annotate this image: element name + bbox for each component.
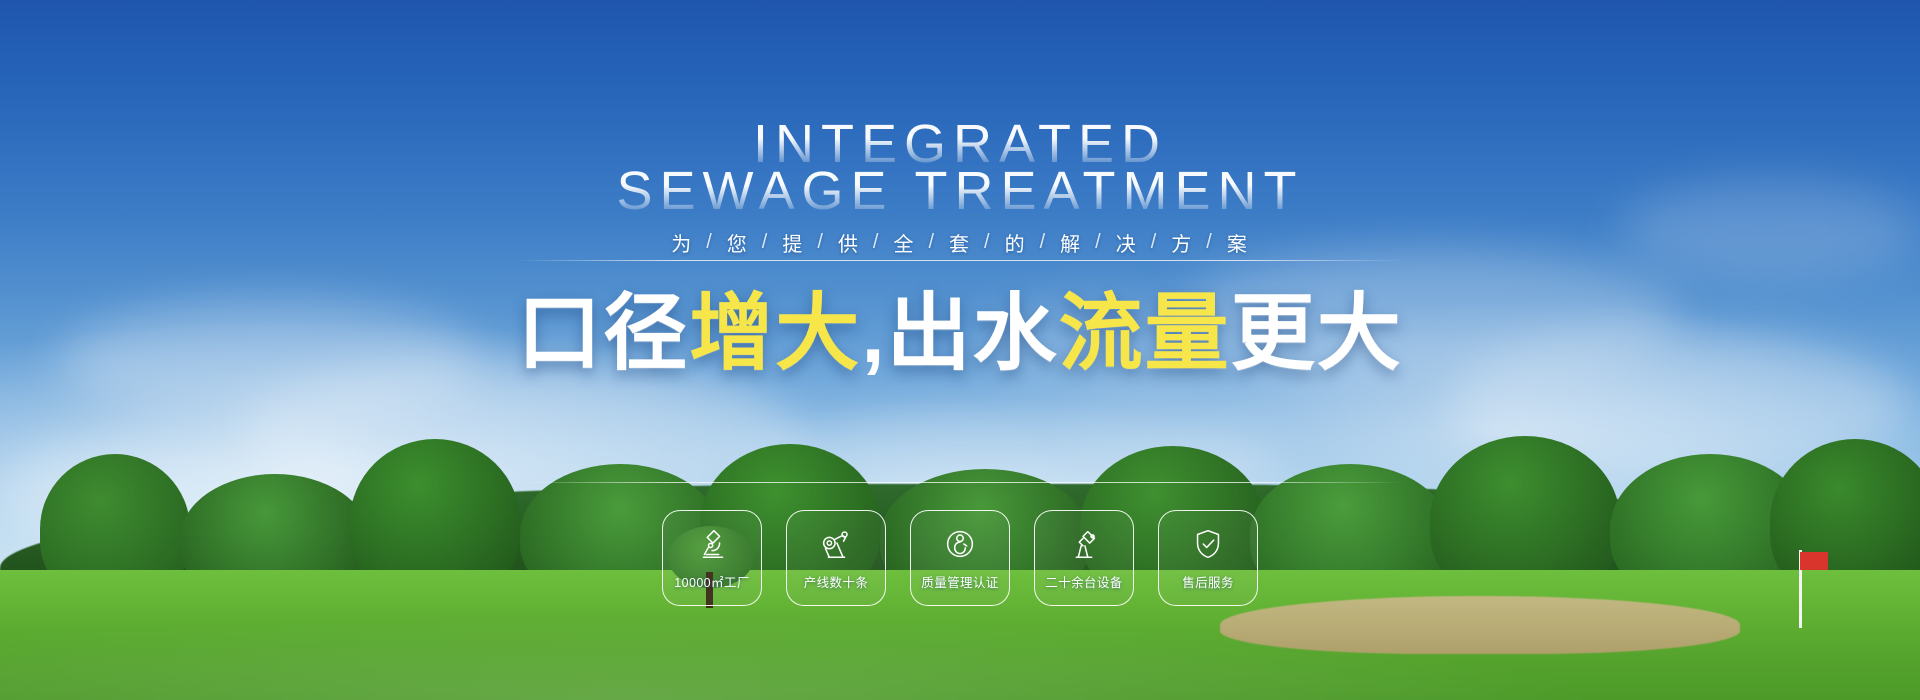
slogan-char: 套 bbox=[936, 228, 984, 257]
slogan-char: 解 bbox=[1047, 228, 1095, 257]
slogan-separator: / bbox=[1206, 231, 1214, 254]
slogan-separator: / bbox=[1095, 231, 1103, 254]
slogan-char: 您 bbox=[714, 228, 762, 257]
headline-highlight-2: 流量 bbox=[1059, 286, 1231, 380]
english-eyebrow: INTEGRATED SEWAGE TREATMENT bbox=[410, 118, 1510, 218]
slogan-char: 为 bbox=[658, 228, 706, 257]
feature-badge-5[interactable]: 售后服务 bbox=[1158, 510, 1258, 606]
feature-badge-label: 产线数十条 bbox=[804, 572, 869, 591]
slogan-char: 案 bbox=[1214, 228, 1262, 257]
feature-badge-2[interactable]: 产线数十条 bbox=[786, 510, 886, 606]
feature-badge-label: 质量管理认证 bbox=[921, 572, 998, 591]
microscope-icon bbox=[693, 525, 731, 563]
slogan-separator: / bbox=[817, 231, 825, 254]
slogan-char: 决 bbox=[1103, 228, 1151, 257]
headline-part-5: 更大 bbox=[1231, 286, 1403, 380]
headline-comma: , bbox=[861, 286, 886, 380]
headline: 口径增大,出水流量更大 bbox=[410, 286, 1510, 380]
divider-bottom bbox=[515, 482, 1405, 483]
banner-content: INTEGRATED SEWAGE TREATMENT 为/您/提/供/全/套/… bbox=[0, 0, 1920, 700]
equipment-icon bbox=[1065, 525, 1103, 563]
slogan-char: 方 bbox=[1158, 228, 1206, 257]
slogan-separator: / bbox=[706, 231, 714, 254]
slogan-separator: / bbox=[928, 231, 936, 254]
slogan-separator: / bbox=[762, 231, 770, 254]
slogan-char: 供 bbox=[825, 228, 873, 257]
feature-badge-label: 10000㎡工厂 bbox=[674, 572, 749, 591]
headline-part-3: 出水 bbox=[887, 286, 1059, 380]
feature-badges: 10000㎡工厂产线数十条质量管理认证二十余台设备售后服务 bbox=[410, 510, 1510, 606]
shield-icon bbox=[1189, 525, 1227, 563]
slogan-char: 全 bbox=[880, 228, 928, 257]
slogan-separator: / bbox=[984, 231, 992, 254]
feature-badge-label: 售后服务 bbox=[1182, 572, 1234, 591]
headline-part-1: 口径 bbox=[517, 286, 689, 380]
feature-badge-1[interactable]: 10000㎡工厂 bbox=[662, 510, 762, 606]
divider-top bbox=[515, 260, 1405, 261]
slogan-separator: / bbox=[1151, 231, 1159, 254]
eyebrow-line-2: SEWAGE TREATMENT bbox=[410, 165, 1510, 218]
feature-badge-3[interactable]: 质量管理认证 bbox=[910, 510, 1010, 606]
hero-banner: INTEGRATED SEWAGE TREATMENT 为/您/提/供/全/套/… bbox=[0, 0, 1920, 700]
certificate-icon bbox=[941, 525, 979, 563]
slogan-row: 为/您/提/供/全/套/的/解/决/方/案 bbox=[410, 228, 1510, 257]
slogan-separator: / bbox=[1040, 231, 1048, 254]
slogan-char: 的 bbox=[992, 228, 1040, 257]
machine-icon bbox=[817, 525, 855, 563]
slogan-separator: / bbox=[873, 231, 881, 254]
slogan-char: 提 bbox=[769, 228, 817, 257]
feature-badge-label: 二十余台设备 bbox=[1045, 572, 1122, 591]
headline-highlight-1: 增大 bbox=[689, 286, 861, 380]
feature-badge-4[interactable]: 二十余台设备 bbox=[1034, 510, 1134, 606]
